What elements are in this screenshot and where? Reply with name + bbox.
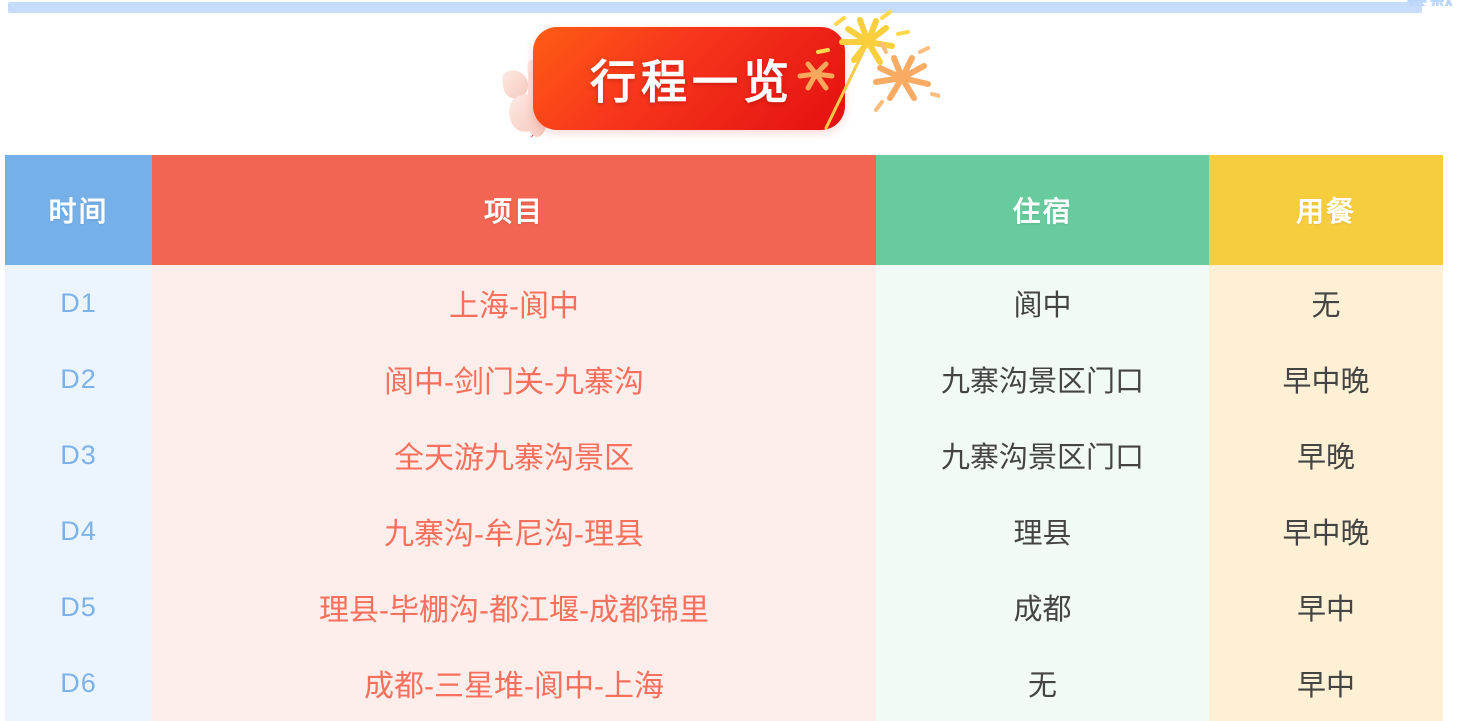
cell-time: D2: [5, 341, 152, 417]
table-row: D2 阆中-剑门关-九寨沟 九寨沟景区门口 早中晚: [5, 341, 1443, 417]
cell-time: D1: [5, 265, 152, 341]
cell-stay: 阆中: [876, 265, 1209, 341]
cell-stay: 成都: [876, 569, 1209, 645]
cell-item: 成都-三星堆-阆中-上海: [152, 645, 876, 721]
table-row: D4 九寨沟-牟尼沟-理县 理县 早中晚: [5, 493, 1443, 569]
table-row: D5 理县-毕棚沟-都江堰-成都锦里 成都 早中: [5, 569, 1443, 645]
cell-item: 全天游九寨沟景区: [152, 417, 876, 493]
cell-meal: 早中晚: [1209, 493, 1443, 569]
cell-time: D5: [5, 569, 152, 645]
cell-stay: 理县: [876, 493, 1209, 569]
cell-time: D4: [5, 493, 152, 569]
column-header-item: 项目: [152, 155, 876, 265]
itinerary-table: 时间 项目 住宿 用餐 D1 上海-阆中 阆中 无 D2 阆中-剑门关-九寨沟 …: [5, 155, 1443, 721]
column-header-meal: 用餐: [1209, 155, 1443, 265]
cell-meal: 早中晚: [1209, 341, 1443, 417]
cell-item: 九寨沟-牟尼沟-理县: [152, 493, 876, 569]
page-title: 行程一览: [584, 46, 794, 112]
cell-stay: 无: [876, 645, 1209, 721]
cell-meal: 无: [1209, 265, 1443, 341]
firework-sparkler-icon: [790, 8, 940, 138]
cell-item: 理县-毕棚沟-都江堰-成都锦里: [152, 569, 876, 645]
table-row: D3 全天游九寨沟景区 九寨沟景区门口 早晚: [5, 417, 1443, 493]
cell-stay: 九寨沟景区门口: [876, 417, 1209, 493]
column-header-time: 时间: [5, 155, 152, 265]
title-banner: 行程一览: [0, 0, 1462, 150]
column-header-stay: 住宿: [876, 155, 1209, 265]
table-row: D6 成都-三星堆-阆中-上海 无 早中: [5, 645, 1443, 721]
cell-meal: 早中: [1209, 569, 1443, 645]
cell-meal: 早晚: [1209, 417, 1443, 493]
cell-time: D6: [5, 645, 152, 721]
table-row: D1 上海-阆中 阆中 无: [5, 265, 1443, 341]
table-header-row: 时间 项目 住宿 用餐: [5, 155, 1443, 265]
cell-time: D3: [5, 417, 152, 493]
cell-meal: 早中: [1209, 645, 1443, 721]
cell-item: 阆中-剑门关-九寨沟: [152, 341, 876, 417]
cell-stay: 九寨沟景区门口: [876, 341, 1209, 417]
cell-item: 上海-阆中: [152, 265, 876, 341]
